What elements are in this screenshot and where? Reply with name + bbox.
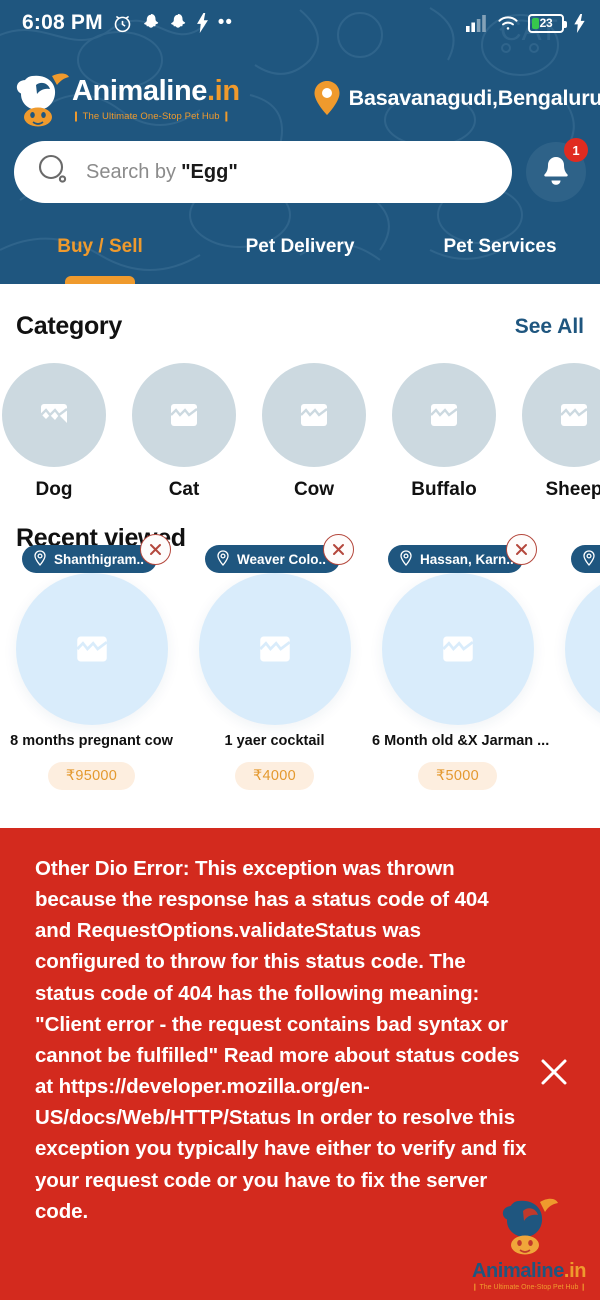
recent-item-price: ₹4000 [235, 762, 314, 790]
broken-image-icon [75, 632, 109, 666]
watermark-logo: Animaline.in ❙ The Ultimate One-Stop Pet… [466, 1192, 592, 1292]
animaline-cow-mascot-logo-icon [12, 68, 70, 128]
category-item-buffalo[interactable]: Buffalo [392, 363, 496, 501]
category-image-placeholder [2, 363, 106, 467]
battery-level-label: 23 [530, 16, 562, 31]
category-image-placeholder [392, 363, 496, 467]
location-pin-icon [314, 81, 340, 115]
broken-image-icon [299, 400, 329, 430]
close-icon [513, 541, 530, 558]
broken-image-icon [39, 400, 69, 430]
app-logo-tagline: ❙ The Ultimate One-Stop Pet Hub ❙ [72, 111, 230, 122]
close-icon [147, 541, 164, 558]
app-header: CAT 6:08 PM [0, 0, 600, 284]
broken-image-icon [441, 632, 475, 666]
location-selector[interactable]: Basavanagudi,Bengaluru [314, 81, 600, 115]
location-label: Basavanagudi,Bengaluru [349, 86, 600, 111]
tab-pet-delivery[interactable]: Pet Delivery [200, 226, 400, 284]
category-item-label: Cow [262, 479, 366, 501]
close-icon [330, 541, 347, 558]
battery-icon: 23 [528, 14, 564, 33]
category-image-placeholder [132, 363, 236, 467]
remove-recent-item-button[interactable] [140, 534, 171, 565]
recent-item-price: ₹95000 [48, 762, 135, 790]
cellular-signal-icon [466, 14, 488, 32]
more-dots-icon: •• [218, 20, 233, 26]
notification-button[interactable]: 1 [526, 142, 586, 202]
category-item-cat[interactable]: Cat [132, 363, 236, 501]
snapchat-ghost-icon [169, 13, 187, 33]
close-icon [537, 1055, 571, 1089]
brand-row: Animaline.in ❙ The Ultimate One-Stop Pet… [0, 62, 600, 134]
recent-item-location-badge: Hassan, Karn.. [388, 545, 523, 573]
wifi-icon [497, 14, 519, 32]
tab-active-indicator [65, 276, 135, 284]
alarm-clock-icon [112, 13, 133, 34]
location-pin-outline-icon [399, 550, 413, 569]
recent-item-location-badge: Weaver Colo.. [205, 545, 340, 573]
snapchat-ghost-icon [142, 13, 160, 33]
app-screen: CAT 6:08 PM [0, 0, 600, 1300]
recent-item-location-badge: Shanthigram.. [22, 545, 157, 573]
header-tabs: Buy / Sell Pet Delivery Pet Services [0, 226, 600, 284]
location-pin-outline-icon [33, 550, 47, 569]
app-logo-name: Animaline.in [72, 75, 240, 107]
recent-item-title: Sho [549, 733, 600, 749]
category-image-placeholder [262, 363, 366, 467]
error-close-button[interactable] [532, 1050, 576, 1094]
category-item-label: Dog [2, 479, 106, 501]
tab-pet-services[interactable]: Pet Services [400, 226, 600, 284]
broken-image-icon [429, 400, 459, 430]
animaline-cow-mascot-logo-icon [466, 1192, 592, 1256]
location-pin-outline-icon [582, 550, 596, 569]
category-see-all-link[interactable]: See All [515, 315, 584, 339]
status-bar-clock: 6:08 PM [22, 11, 103, 35]
list-item[interactable]: Shanthigram.. 8 months pregnant [0, 567, 183, 790]
watermark-name: Animaline.in [466, 1261, 592, 1281]
recent-item-title: 6 Month old &X Jarman ... [366, 733, 549, 749]
category-section-title: Category [16, 312, 122, 341]
category-section: Category See All Dog [0, 284, 600, 501]
search-placeholder-text: Search by"Egg" [86, 161, 238, 184]
recent-item-location-label: Hassan, Karn.. [420, 552, 514, 567]
category-item-dog[interactable]: Dog [2, 363, 106, 501]
recent-item-location-badge [571, 545, 600, 573]
search-row: Search by"Egg" 1 [0, 140, 600, 204]
remove-recent-item-button[interactable] [506, 534, 537, 565]
category-item-label: Sheep [522, 479, 600, 501]
remove-recent-item-button[interactable] [323, 534, 354, 565]
recent-item-image-placeholder [16, 573, 168, 725]
list-item[interactable]: Weaver Colo.. 1 yaer cocktail [183, 567, 366, 790]
recent-item-title: 8 months pregnant cow [0, 733, 183, 749]
bolt-icon [196, 13, 209, 33]
recent-item-price: ₹5000 [418, 762, 497, 790]
category-item-sheep[interactable]: Sheep [522, 363, 600, 501]
charging-bolt-icon [573, 14, 586, 33]
recent-item-location-label: Weaver Colo.. [237, 552, 326, 567]
recent-viewed-list[interactable]: Shanthigram.. 8 months pregnant [0, 553, 600, 790]
search-icon [36, 153, 70, 192]
category-item-label: Cat [132, 479, 236, 501]
error-message: Other Dio Error: This exception was thro… [35, 853, 530, 1227]
broken-image-icon [559, 400, 589, 430]
category-image-placeholder [522, 363, 600, 467]
location-pin-outline-icon [216, 550, 230, 569]
recent-item-image-placeholder [382, 573, 534, 725]
recent-item-location-label: Shanthigram.. [54, 552, 144, 567]
recent-item-title: 1 yaer cocktail [183, 733, 366, 749]
category-list[interactable]: Dog Cat Cow [0, 341, 600, 501]
watermark-tagline: ❙ The Ultimate One-Stop Pet Hub ❙ [466, 1283, 592, 1291]
status-bar: 6:08 PM [0, 0, 600, 46]
recent-item-image-placeholder [199, 573, 351, 725]
recent-item-image-placeholder [565, 573, 600, 725]
broken-image-icon [169, 400, 199, 430]
app-logo[interactable]: Animaline.in ❙ The Ultimate One-Stop Pet… [12, 68, 240, 128]
notification-badge: 1 [564, 138, 588, 162]
category-item-cow[interactable]: Cow [262, 363, 366, 501]
list-item[interactable]: Hassan, Karn.. 6 Month old &X J [366, 567, 549, 790]
list-item[interactable]: Sho [549, 567, 600, 790]
error-banner: Other Dio Error: This exception was thro… [0, 828, 600, 1300]
broken-image-icon [258, 632, 292, 666]
search-input[interactable]: Search by"Egg" [14, 141, 512, 203]
category-item-label: Buffalo [392, 479, 496, 501]
recent-viewed-section: Recent viewed Shanthigram.. [0, 524, 600, 790]
tab-buy-sell[interactable]: Buy / Sell [0, 226, 200, 284]
